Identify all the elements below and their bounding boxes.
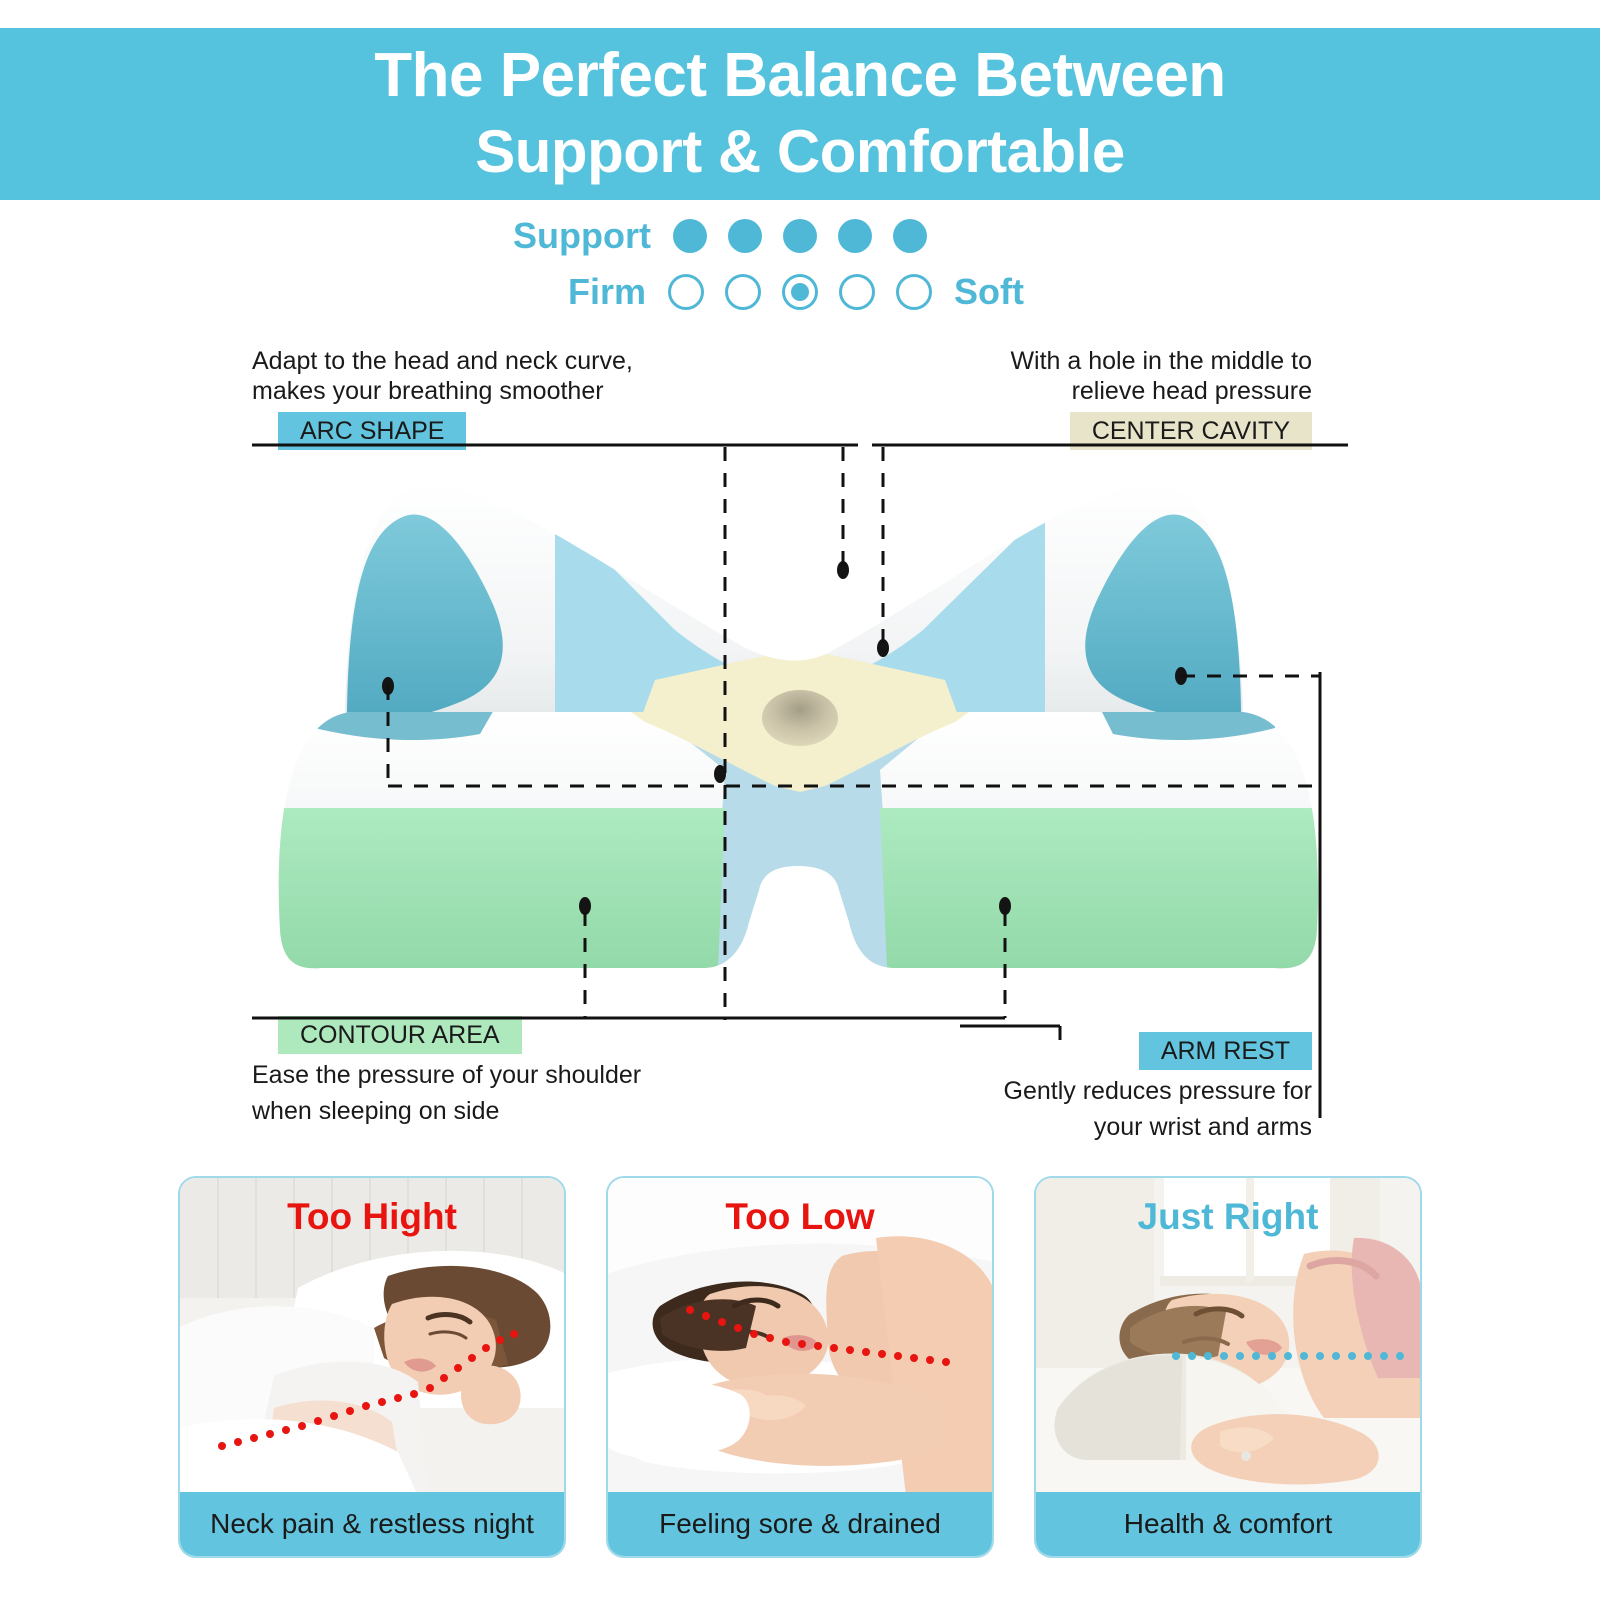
pillow-contour-green (263, 808, 725, 990)
center-cavity-hole (762, 690, 838, 746)
callout-contour-area: CONTOUR AREA Ease the pressure of your s… (252, 1016, 641, 1126)
card-title-just-right: Just Right (1036, 1196, 1420, 1238)
contour-right-marker (999, 897, 1011, 915)
contour-area-desc-1: Ease the pressure of your shoulder (252, 1060, 641, 1090)
support-rating-label: Support (473, 215, 673, 257)
firmness-ring-2 (725, 274, 761, 310)
header-title-line-2: Support & Comfortable (475, 114, 1124, 190)
comparison-card-too-high[interactable]: Too Hight Neck pain & restless night (178, 1176, 566, 1558)
support-dot-2 (728, 219, 762, 253)
support-dot-4 (838, 219, 872, 253)
contour-left-marker (579, 897, 591, 915)
center-cavity-upper-marker (837, 561, 849, 579)
center-cavity-hole-marker (877, 639, 889, 657)
infographic-page: The Perfect Balance Between Support & Co… (0, 0, 1600, 1600)
center-cavity-desc-1: With a hole in the middle to (1010, 346, 1312, 376)
card-title-too-high: Too Hight (180, 1196, 564, 1238)
contour-area-tag-wrap: CONTOUR AREA (252, 1016, 641, 1054)
firmness-ring-3-selected (782, 274, 818, 310)
support-rating-dots (673, 219, 927, 253)
arm-rest-marker (1175, 667, 1187, 685)
arm-rest-desc-1: Gently reduces pressure for (1004, 1076, 1312, 1106)
comparison-card-just-right[interactable]: Just Right Health & comfort (1034, 1176, 1422, 1558)
arm-rest-desc-2: your wrist and arms (1004, 1112, 1312, 1142)
pillow-contour-green-right (880, 808, 1337, 990)
firmness-ring-5 (896, 274, 932, 310)
card-title-too-low: Too Low (608, 1196, 992, 1238)
arc-shape-desc-2: makes your breathing smoother (252, 376, 633, 406)
center-cavity-tag-wrap: CENTER CAVITY (1010, 412, 1312, 450)
arc-shape-tag-wrap: ARC SHAPE (252, 412, 633, 450)
card-caption-just-right: Health & comfort (1036, 1492, 1420, 1556)
pillow-body-section (263, 690, 1337, 990)
card-caption-too-low: Feeling sore & drained (608, 1492, 992, 1556)
support-dot-5 (893, 219, 927, 253)
callout-arc-shape: Adapt to the head and neck curve, makes … (252, 346, 633, 450)
card-caption-too-high: Neck pain & restless night (180, 1492, 564, 1556)
comparison-card-too-low[interactable]: Too Low Feeling sore & drained (606, 1176, 994, 1558)
firmness-firm-label: Firm (468, 271, 668, 313)
callout-arm-rest: ARM REST Gently reduces pressure for you… (1004, 1032, 1312, 1142)
header-banner: The Perfect Balance Between Support & Co… (0, 28, 1600, 200)
arm-rest-tag-wrap: ARM REST (1004, 1032, 1312, 1070)
center-cavity-desc-2: relieve head pressure (1010, 376, 1312, 406)
arm-rest-tag: ARM REST (1139, 1032, 1312, 1070)
contour-area-desc-2: when sleeping on side (252, 1096, 641, 1126)
center-cavity-tag: CENTER CAVITY (1070, 412, 1312, 450)
contour-area-tag: CONTOUR AREA (278, 1016, 522, 1054)
firmness-ring-1 (668, 274, 704, 310)
arc-shape-marker (382, 677, 394, 695)
support-dot-3 (783, 219, 817, 253)
pillow-illustration (255, 470, 1345, 990)
firmness-ring-4 (839, 274, 875, 310)
firmness-rating-dots (668, 274, 932, 310)
arc-shape-desc-1: Adapt to the head and neck curve, (252, 346, 633, 376)
firmness-selected-dot (791, 283, 809, 301)
firmness-rating-row: Firm Soft (0, 264, 1600, 320)
firmness-soft-label: Soft (932, 271, 1132, 313)
support-dot-1 (673, 219, 707, 253)
support-rating-row: Support (0, 208, 1600, 264)
mid-blue-marker (714, 765, 726, 783)
rating-block: Support Firm Soft (0, 208, 1600, 320)
header-title-line-1: The Perfect Balance Between (374, 38, 1225, 114)
comparison-card-row: Too Hight Neck pain & restless night (0, 1176, 1600, 1576)
callout-center-cavity: With a hole in the middle to relieve hea… (1010, 346, 1312, 450)
arc-shape-tag: ARC SHAPE (278, 412, 466, 450)
